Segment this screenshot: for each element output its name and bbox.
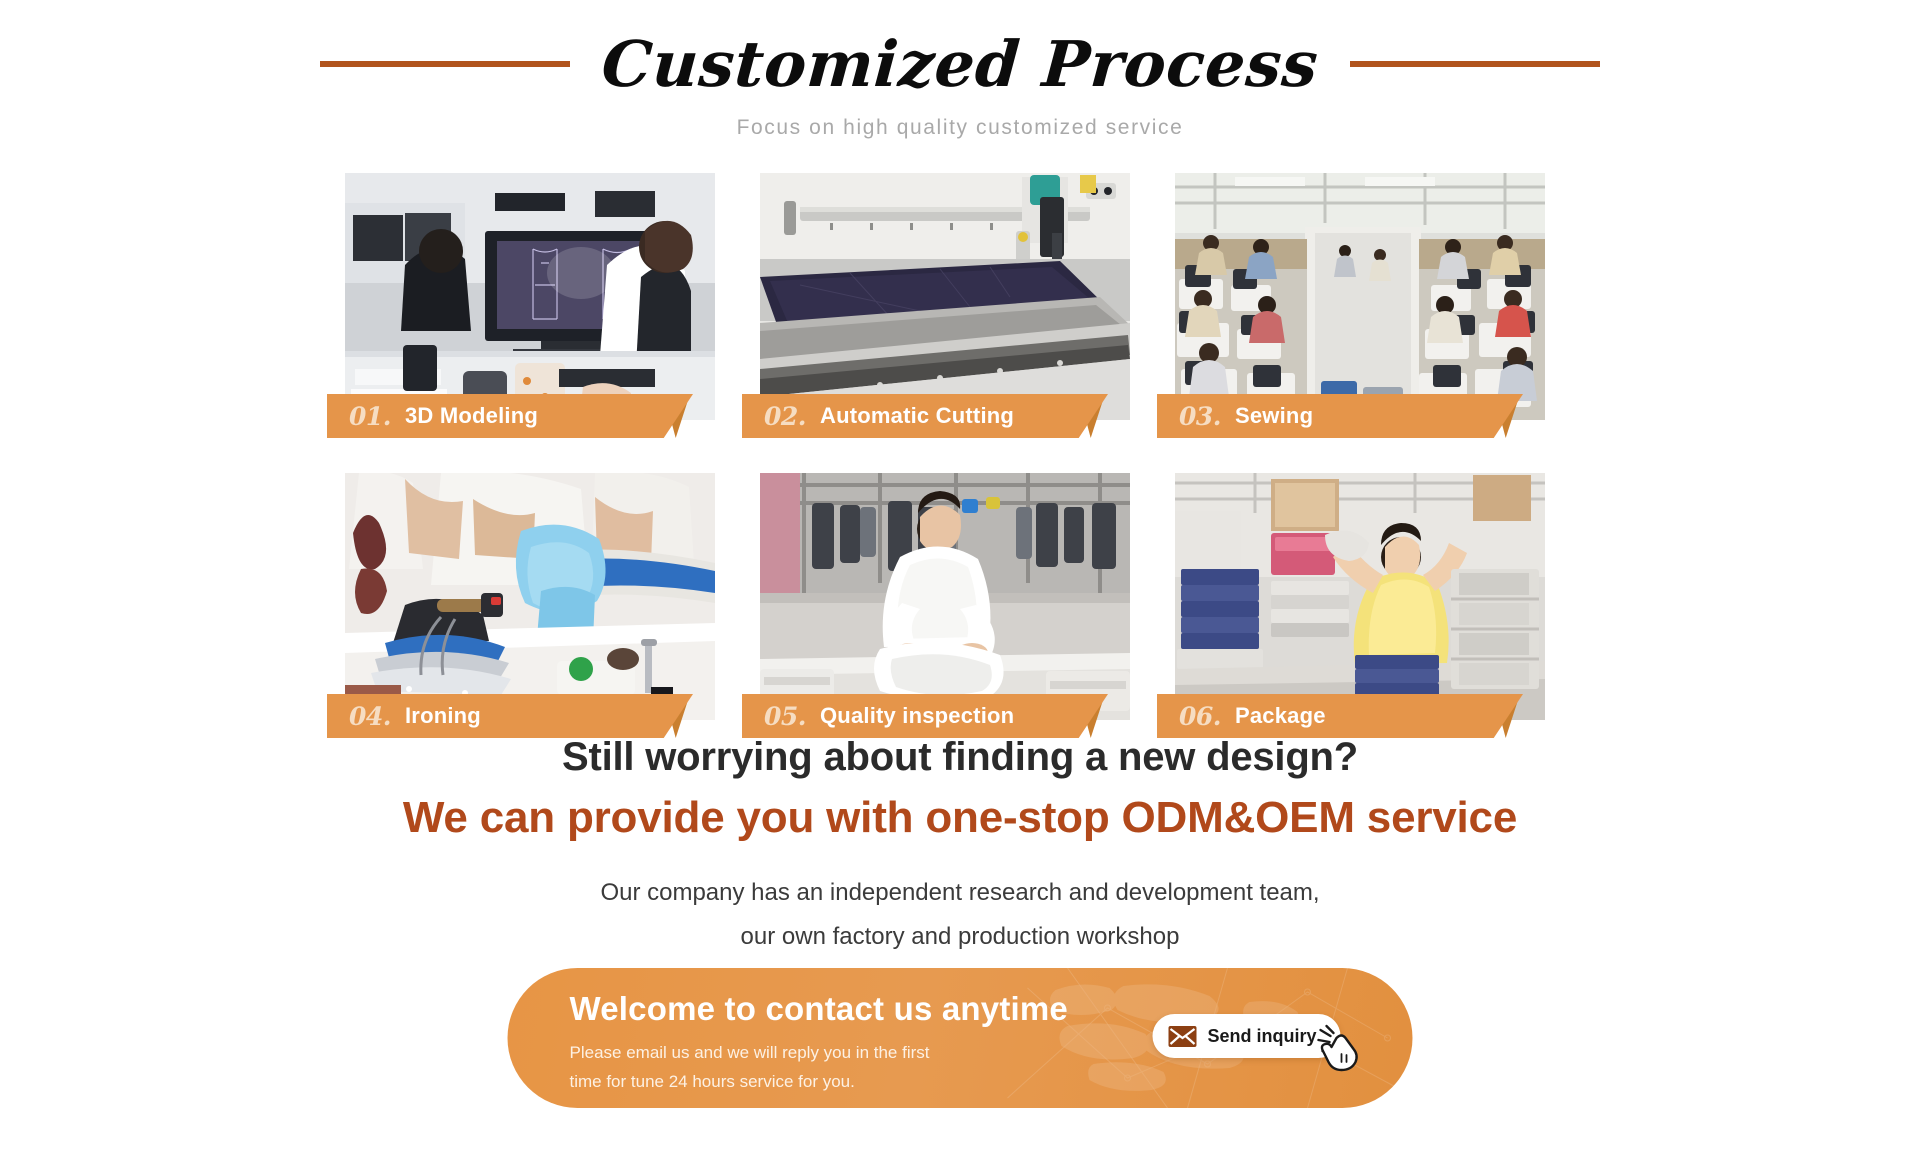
- process-step-card[interactable]: 05. Quality inspection: [760, 473, 1130, 720]
- photo-sewing: [1175, 173, 1545, 420]
- send-inquiry-button[interactable]: Send inquiry: [1152, 1014, 1340, 1058]
- send-inquiry-label: Send inquiry: [1207, 1026, 1316, 1047]
- process-step-card[interactable]: 06. Package: [1175, 473, 1545, 720]
- pitch-paragraph-line-2: our own factory and production workshop: [0, 915, 1920, 959]
- step-label: Package: [1235, 703, 1326, 729]
- process-step-card[interactable]: 04. Ironing: [345, 473, 715, 720]
- envelope-icon: [1168, 1026, 1196, 1047]
- step-label: Quality inspection: [820, 703, 1014, 729]
- step-number: 03.: [1179, 402, 1221, 431]
- photo-quality-inspection: [760, 473, 1130, 720]
- step-ribbon: 06. Package: [1157, 694, 1547, 738]
- step-number: 04.: [349, 702, 391, 731]
- contact-cta-banner[interactable]: Welcome to contact us anytime Please ema…: [508, 968, 1413, 1108]
- step-ribbon: 02. Automatic Cutting: [742, 394, 1132, 438]
- pitch-block: Still worrying about finding a new desig…: [0, 735, 1920, 959]
- pitch-paragraph-line-1: Our company has an independent research …: [0, 871, 1920, 915]
- step-number: 06.: [1179, 702, 1221, 731]
- step-number: 02.: [764, 402, 806, 431]
- step-number: 05.: [764, 702, 806, 731]
- step-ribbon: 03. Sewing: [1157, 394, 1547, 438]
- step-ribbon: 04. Ironing: [327, 694, 717, 738]
- step-ribbon: 01. 3D Modeling: [327, 394, 717, 438]
- step-label: Ironing: [405, 703, 481, 729]
- process-step-card[interactable]: 03. Sewing: [1175, 173, 1545, 420]
- photo-ironing: [345, 473, 715, 720]
- pitch-subheadline: We can provide you with one-stop ODM&OEM…: [0, 793, 1920, 843]
- process-step-card[interactable]: 02. Automatic Cutting: [760, 173, 1130, 420]
- step-number: 01.: [349, 402, 391, 431]
- process-step-card[interactable]: 01. 3D Modeling: [345, 173, 715, 420]
- customized-process-page: Customized Process Focus on high quality…: [0, 0, 1920, 1150]
- page-subtitle: Focus on high quality customized service: [0, 116, 1920, 140]
- photo-automatic-cutting: [760, 173, 1130, 420]
- hand-pointer-icon: [1317, 1024, 1363, 1072]
- step-ribbon: 05. Quality inspection: [742, 694, 1132, 738]
- title-row: Customized Process: [0, 20, 1920, 108]
- title-rule-left: [320, 61, 570, 67]
- pitch-headline: Still worrying about finding a new desig…: [0, 735, 1920, 780]
- cta-subtext-line-2: time for tune 24 hours service for you.: [570, 1067, 1413, 1096]
- title-rule-right: [1350, 61, 1600, 67]
- step-label: Sewing: [1235, 403, 1313, 429]
- photo-package: [1175, 473, 1545, 720]
- photo-3d-modeling: [345, 173, 715, 420]
- page-header: Customized Process Focus on high quality…: [0, 20, 1920, 140]
- step-label: Automatic Cutting: [820, 403, 1014, 429]
- step-label: 3D Modeling: [405, 403, 538, 429]
- page-title: Customized Process: [600, 33, 1320, 96]
- pitch-paragraph: Our company has an independent research …: [0, 871, 1920, 959]
- process-steps-grid: 01. 3D Modeling: [345, 173, 1575, 720]
